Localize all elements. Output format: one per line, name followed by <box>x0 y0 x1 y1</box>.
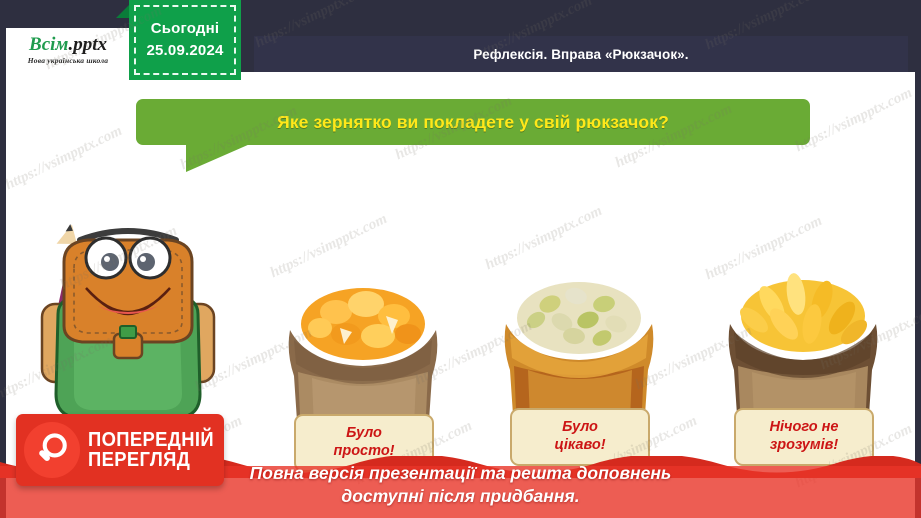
sack-label-line-1: Було <box>346 425 382 443</box>
sack-interesting: Було цікаво! <box>484 262 674 462</box>
question-bubble: Яке зернятко ви покладете у свій рюкзачо… <box>136 99 810 145</box>
logo-title-suffix: .pptx <box>68 34 107 55</box>
corn-kernels-icon <box>301 288 425 360</box>
date-badge-value: 25.09.2024 <box>146 40 223 62</box>
logo-title: Всім.pptx <box>29 35 107 54</box>
date-badge: Сьогодні 25.09.2024 <box>129 0 241 80</box>
slide-canvas: Всім.pptx Нова українська школа Сьогодні… <box>0 0 921 518</box>
preview-badge-line-2: ПЕРЕГЛЯД <box>88 450 214 470</box>
wheat-grains-icon <box>736 272 871 352</box>
question-bubble-body: Яке зернятко ви покладете у свій рюкзачо… <box>136 99 810 145</box>
sack-label-line-2: зрозумів! <box>770 437 838 455</box>
preview-badge-text: ПОПЕРЕДНІЙ ПЕРЕГЛЯД <box>88 430 225 471</box>
sack-label-line-1: Було <box>562 419 598 437</box>
header-title-bar: Рефлексія. Вправа «Рюкзачок». <box>254 36 908 72</box>
sack-simple: Було просто! <box>268 268 458 468</box>
pumpkin-seeds-icon <box>517 282 641 354</box>
preview-badge-line-1: ПОПЕРЕДНІЙ <box>88 430 214 450</box>
banner-line-1: Повна версія презентації та решта доповн… <box>250 462 672 485</box>
date-badge-label: Сьогодні <box>151 18 220 40</box>
logo-subtitle: Нова українська школа <box>28 56 109 65</box>
question-text: Яке зернятко ви покладете у свій рюкзачо… <box>277 112 669 133</box>
sack-confused: Нічого не зрозумів! <box>708 262 898 462</box>
banner-line-2: доступні після придбання. <box>341 485 579 508</box>
preview-badge[interactable]: ПОПЕРЕДНІЙ ПЕРЕГЛЯД <box>16 414 224 486</box>
page-title: Рефлексія. Вправа «Рюкзачок». <box>473 47 688 62</box>
sack-label-line-1: Нічого не <box>770 419 839 437</box>
question-bubble-tail <box>186 144 250 172</box>
logo-title-prefix: Всім <box>29 34 68 55</box>
sack-label-line-2: цікаво! <box>554 437 605 455</box>
site-logo: Всім.pptx Нова українська школа <box>6 28 130 72</box>
magnifier-icon <box>24 422 80 478</box>
